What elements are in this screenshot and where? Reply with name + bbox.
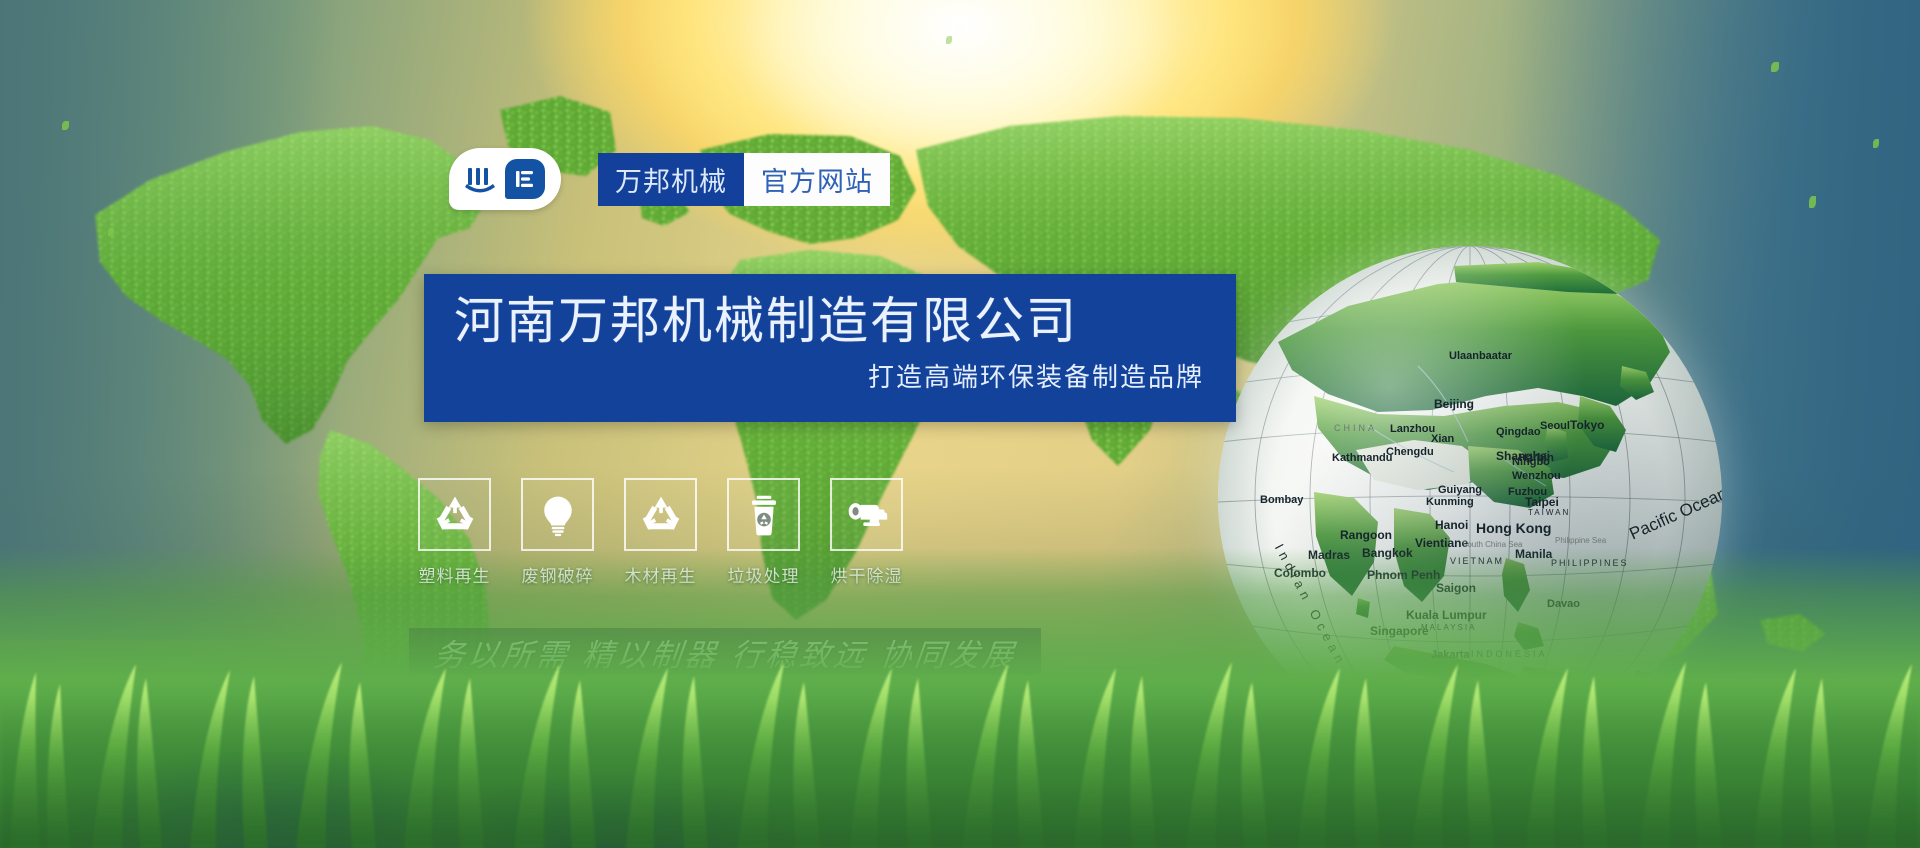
leaf-speck (1809, 196, 1816, 208)
leaf-speck (108, 228, 114, 236)
b-letter-badge-icon (505, 159, 545, 199)
brand-title-bar: 万邦机械 官方网站 (598, 153, 890, 206)
grass-depth-blur (0, 698, 1920, 848)
dryer-machine-icon (845, 493, 889, 537)
lightbulb-icon (536, 493, 580, 537)
recycle-icon (433, 493, 477, 537)
leaf-speck (946, 36, 952, 44)
w-letter-icon (465, 162, 499, 196)
leaf-speck (1873, 139, 1879, 148)
brand-site-label[interactable]: 官方网站 (744, 153, 890, 206)
leaf-speck (1771, 62, 1779, 72)
service-icon-box[interactable] (418, 478, 491, 551)
brand-row: 万邦机械 官方网站 (449, 148, 890, 210)
page-subtitle: 打造高端环保装备制造品牌 (454, 357, 1204, 394)
recycle-icon (639, 493, 683, 537)
service-icon-box[interactable] (521, 478, 594, 551)
brand-company-short[interactable]: 万邦机械 (598, 153, 744, 206)
trash-bin-icon (742, 493, 786, 537)
page-title: 河南万邦机械制造有限公司 (454, 292, 1204, 351)
leaf-speck (62, 121, 69, 130)
hero-banner: Beijing Shanghai Hong Kong Taipei Tokyo … (0, 0, 1920, 848)
title-panel: 河南万邦机械制造有限公司 打造高端环保装备制造品牌 (424, 274, 1236, 422)
service-icon-box[interactable] (830, 478, 903, 551)
service-icon-box[interactable] (727, 478, 800, 551)
service-icon-box[interactable] (624, 478, 697, 551)
wanbang-logo[interactable] (449, 148, 561, 210)
